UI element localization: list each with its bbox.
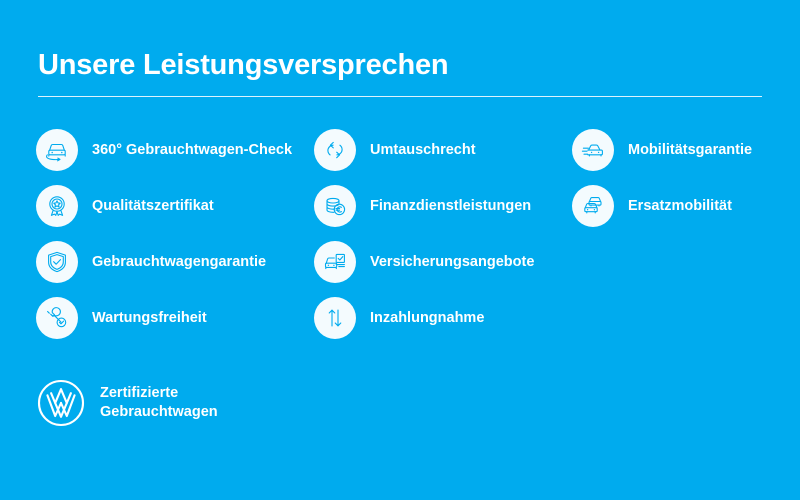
shield-check-icon bbox=[36, 241, 78, 283]
promise-label: Qualitätszertifikat bbox=[92, 197, 214, 215]
promise-item-umtauschrecht[interactable]: Umtauschrecht bbox=[314, 128, 570, 172]
promise-column-1: 360° Gebrauchtwagen-Check Qualitätszerti… bbox=[36, 128, 316, 352]
brand-block: Zertifizierte Gebrauchtwagen bbox=[36, 378, 218, 428]
promise-item-gebrauchtwagen-check[interactable]: 360° Gebrauchtwagen-Check bbox=[36, 128, 316, 172]
promise-label: Wartungsfreiheit bbox=[92, 309, 207, 327]
promise-label: Ersatzmobilität bbox=[628, 197, 732, 215]
promise-label: Mobilitätsgarantie bbox=[628, 141, 752, 159]
promise-item-gebrauchtwagengarantie[interactable]: Gebrauchtwagengarantie bbox=[36, 240, 316, 284]
coins-euro-icon bbox=[314, 185, 356, 227]
promise-item-inzahlungnahme[interactable]: Inzahlungnahme bbox=[314, 296, 570, 340]
exchange-arrows-icon bbox=[314, 129, 356, 171]
promise-label: 360° Gebrauchtwagen-Check bbox=[92, 141, 292, 159]
promise-item-ersatzmobilitaet[interactable]: Ersatzmobilität bbox=[572, 184, 792, 228]
brand-line-2: Gebrauchtwagen bbox=[100, 403, 218, 422]
volkswagen-logo bbox=[36, 378, 86, 428]
promise-item-wartungsfreiheit[interactable]: Wartungsfreiheit bbox=[36, 296, 316, 340]
promise-column-2: Umtauschrecht Finanzdienstleistun bbox=[314, 128, 570, 352]
promise-label: Finanzdienstleistungen bbox=[370, 197, 531, 215]
promise-item-finanzdienstleistungen[interactable]: Finanzdienstleistungen bbox=[314, 184, 570, 228]
promise-columns: 360° Gebrauchtwagen-Check Qualitätszerti… bbox=[0, 128, 800, 358]
header: Unsere Leistungsversprechen bbox=[38, 48, 762, 97]
promise-panel: Unsere Leistungsversprechen bbox=[0, 0, 800, 500]
promise-label: Inzahlungnahme bbox=[370, 309, 484, 327]
promise-label: Versicherungsangebote bbox=[370, 253, 534, 271]
car-document-check-icon bbox=[314, 241, 356, 283]
promise-label: Gebrauchtwagengarantie bbox=[92, 253, 266, 271]
page-title: Unsere Leistungsversprechen bbox=[38, 48, 762, 82]
two-cars-icon bbox=[572, 185, 614, 227]
title-divider bbox=[38, 96, 762, 97]
up-down-arrows-icon bbox=[314, 297, 356, 339]
promise-label: Umtauschrecht bbox=[370, 141, 476, 159]
promise-item-mobilitaetsgarantie[interactable]: Mobilitätsgarantie bbox=[572, 128, 792, 172]
brand-text: Zertifizierte Gebrauchtwagen bbox=[100, 384, 218, 422]
award-rosette-icon bbox=[36, 185, 78, 227]
brand-line-1: Zertifizierte bbox=[100, 384, 218, 403]
promise-item-qualitaetszertifikat[interactable]: Qualitätszertifikat bbox=[36, 184, 316, 228]
moving-car-icon bbox=[572, 129, 614, 171]
wrench-check-icon bbox=[36, 297, 78, 339]
promise-item-versicherungsangebote[interactable]: Versicherungsangebote bbox=[314, 240, 570, 284]
car-360-check-icon bbox=[36, 129, 78, 171]
promise-column-3: Mobilitätsgarantie bbox=[572, 128, 792, 240]
